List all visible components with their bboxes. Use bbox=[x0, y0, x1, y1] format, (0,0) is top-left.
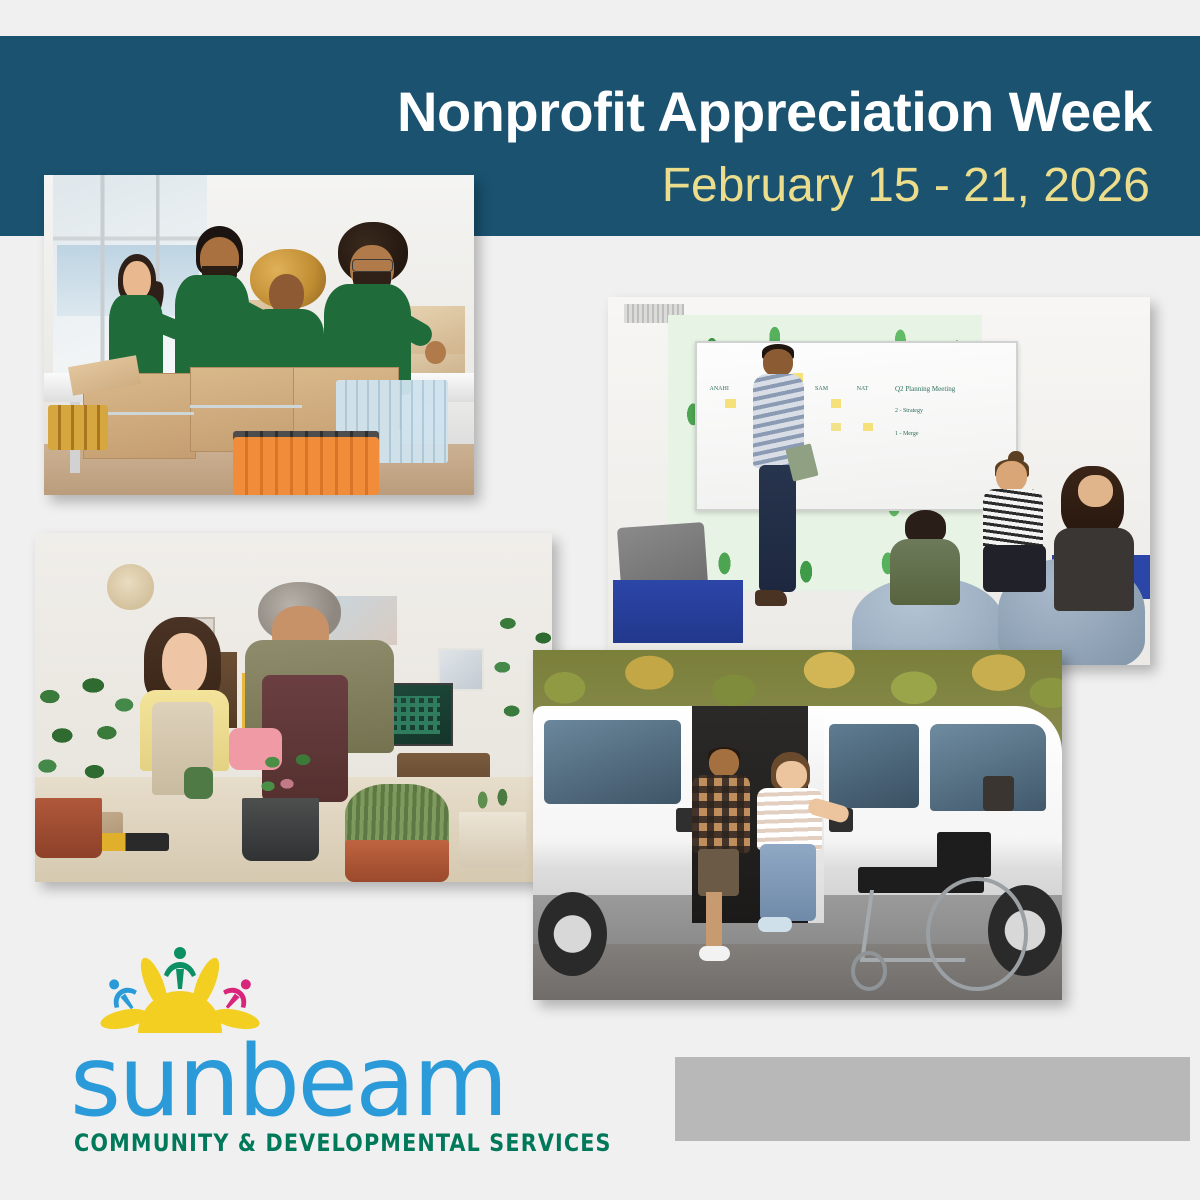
attendee-figure bbox=[1052, 466, 1139, 613]
page-title: Nonprofit Appreciation Week bbox=[397, 84, 1152, 140]
whiteboard-column-label: SAM bbox=[815, 386, 828, 392]
wheelchair bbox=[840, 832, 1020, 993]
placeholder-block bbox=[675, 1057, 1190, 1141]
attendee-figure bbox=[982, 455, 1047, 595]
whiteboard-heading: Q2 Planning Meeting bbox=[895, 385, 955, 393]
presenter-figure bbox=[749, 341, 814, 617]
logo-wordmark: sunbeam bbox=[70, 1033, 506, 1131]
participant-figure bbox=[138, 617, 236, 819]
event-date-range: February 15 - 21, 2026 bbox=[662, 162, 1150, 210]
attendee-figure bbox=[890, 510, 966, 620]
whiteboard: ANAHI ALEX SAM NAT Q2 Planning Meeting 2… bbox=[695, 341, 1019, 511]
photo-accessible-transport bbox=[533, 650, 1062, 1000]
juice-bottles bbox=[233, 437, 379, 495]
logo-tagline: COMMUNITY & DEVELOPMENTAL SERVICES bbox=[74, 1131, 612, 1155]
whiteboard-column-label: NAT bbox=[857, 386, 869, 392]
poster-canvas: Nonprofit Appreciation Week February 15 … bbox=[0, 0, 1200, 1200]
photo-volunteers-food-bank bbox=[44, 175, 474, 495]
whiteboard-column-label: ANAHI bbox=[710, 386, 729, 392]
figure-center bbox=[164, 947, 196, 989]
organization-logo: sunbeam COMMUNITY & DEVELOPMENTAL SERVIC… bbox=[68, 945, 608, 1155]
participant-figure bbox=[755, 752, 829, 945]
caregiver-figure bbox=[692, 745, 755, 962]
whiteboard-line: 1 - Merge bbox=[895, 431, 919, 437]
photo-horticulture-therapy bbox=[35, 533, 552, 882]
photo-team-planning-meeting: ANAHI ALEX SAM NAT Q2 Planning Meeting 2… bbox=[608, 297, 1150, 665]
whiteboard-line: 2 - Strategy bbox=[895, 408, 923, 414]
plant-pot bbox=[242, 798, 320, 861]
